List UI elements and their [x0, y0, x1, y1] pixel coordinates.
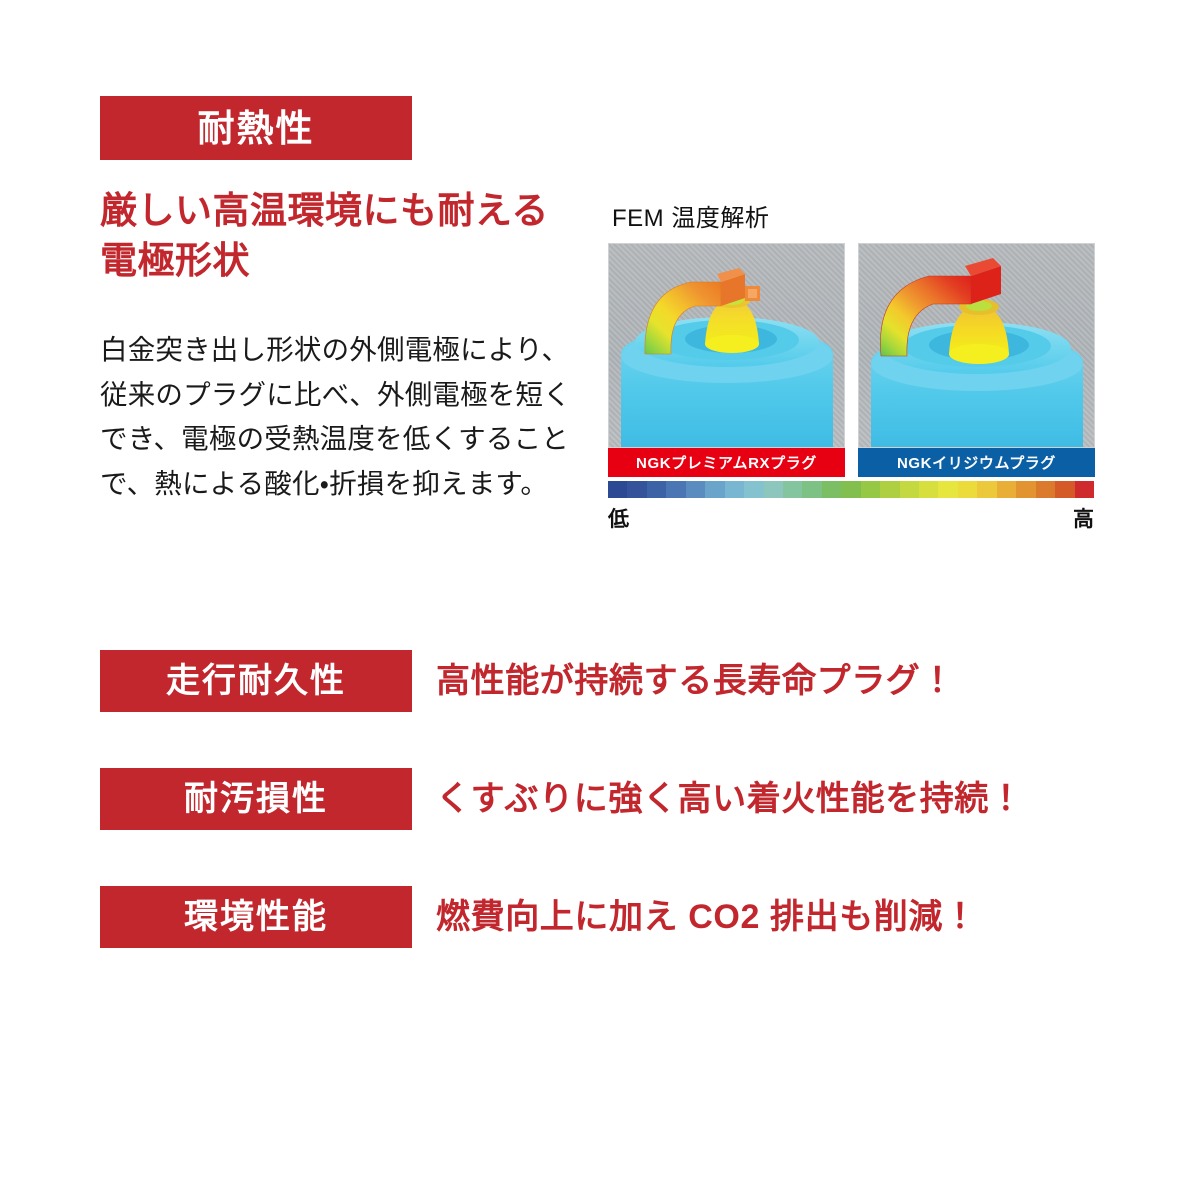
temperature-scale-swatch-1: [627, 481, 646, 498]
heat-resistance-subtitle: 厳しい高温環境にも耐える 電極形状: [100, 186, 580, 285]
feature-badge-label: 耐汚損性: [184, 782, 328, 816]
temperature-scale-swatch-13: [861, 481, 880, 498]
temperature-scale-swatch-2: [647, 481, 666, 498]
temperature-scale-swatch-10: [802, 481, 821, 498]
spark-plug-thermal-render-icon: [609, 244, 845, 448]
fem-render-iridium: [858, 243, 1095, 448]
feature-badge-label: 走行耐久性: [166, 664, 346, 698]
fem-panel-group: NGKプレミアムRXプラグ: [608, 243, 1096, 477]
temperature-scale-swatch-4: [686, 481, 705, 498]
temperature-scale-swatch-16: [919, 481, 938, 498]
temperature-scale-swatch-15: [900, 481, 919, 498]
fem-panel-iridium: NGKイリジウムプラグ: [858, 243, 1095, 477]
feature-badge-durability: 走行耐久性: [100, 650, 412, 712]
temperature-scale-swatch-21: [1016, 481, 1035, 498]
temperature-scale-swatch-14: [880, 481, 899, 498]
temperature-scale-swatch-7: [744, 481, 763, 498]
feature-badge-environmental: 環境性能: [100, 886, 412, 948]
temperature-scale-swatch-12: [841, 481, 860, 498]
temperature-color-scale: [608, 481, 1094, 498]
temperature-scale-swatch-0: [608, 481, 627, 498]
temperature-scale-swatch-22: [1036, 481, 1055, 498]
temperature-scale-swatch-5: [705, 481, 724, 498]
temperature-scale-swatch-6: [725, 481, 744, 498]
temperature-scale-swatch-19: [977, 481, 996, 498]
feature-description: 高性能が持続する長寿命プラグ！: [436, 664, 955, 698]
temperature-scale-swatch-18: [958, 481, 977, 498]
temperature-scale-swatch-9: [783, 481, 802, 498]
temperature-scale-swatch-17: [938, 481, 957, 498]
temperature-scale-swatch-20: [997, 481, 1016, 498]
subtitle-line-1: 厳しい高温環境にも耐える: [100, 186, 580, 236]
temperature-scale-swatch-24: [1075, 481, 1094, 498]
subtitle-line-2: 電極形状: [100, 236, 580, 286]
feature-row: 環境性能 燃費向上に加え CO2 排出も削減！: [100, 886, 1100, 948]
scale-label-low: 低: [608, 503, 629, 533]
feature-badge-fouling-resistance: 耐汚損性: [100, 768, 412, 830]
feature-description: くすぶりに強く高い着火性能を持続！: [436, 782, 1024, 816]
fem-render-premium-rx: [608, 243, 845, 448]
fem-caption-premium-rx: NGKプレミアムRXプラグ: [608, 448, 845, 477]
heat-resistance-badge: 耐熱性: [100, 96, 412, 160]
temperature-scale-labels: 低 高: [608, 503, 1094, 533]
scale-label-high: 高: [1073, 503, 1094, 533]
fem-analysis-title: FEM 温度解析: [608, 198, 1096, 233]
temperature-scale-swatch-11: [822, 481, 841, 498]
heat-resistance-body-text: 白金突き出し形状の外側電極により、従来のプラグに比べ、外側電極を短くでき、電極の…: [100, 328, 590, 506]
feature-description: 燃費向上に加え CO2 排出も削減！: [436, 900, 978, 934]
temperature-scale-swatch-3: [666, 481, 685, 498]
heat-resistance-badge-label: 耐熱性: [198, 110, 315, 147]
fem-panel-premium-rx: NGKプレミアムRXプラグ: [608, 243, 845, 477]
temperature-scale-swatch-8: [764, 481, 783, 498]
feature-row: 耐汚損性 くすぶりに強く高い着火性能を持続！: [100, 768, 1100, 830]
temperature-scale-swatch-23: [1055, 481, 1074, 498]
feature-badge-label: 環境性能: [184, 900, 328, 934]
feature-row: 走行耐久性 高性能が持続する長寿命プラグ！: [100, 650, 1100, 712]
fem-analysis-block: FEM 温度解析: [608, 198, 1096, 477]
spark-plug-thermal-render-icon: [859, 244, 1095, 448]
fem-caption-iridium: NGKイリジウムプラグ: [858, 448, 1095, 477]
